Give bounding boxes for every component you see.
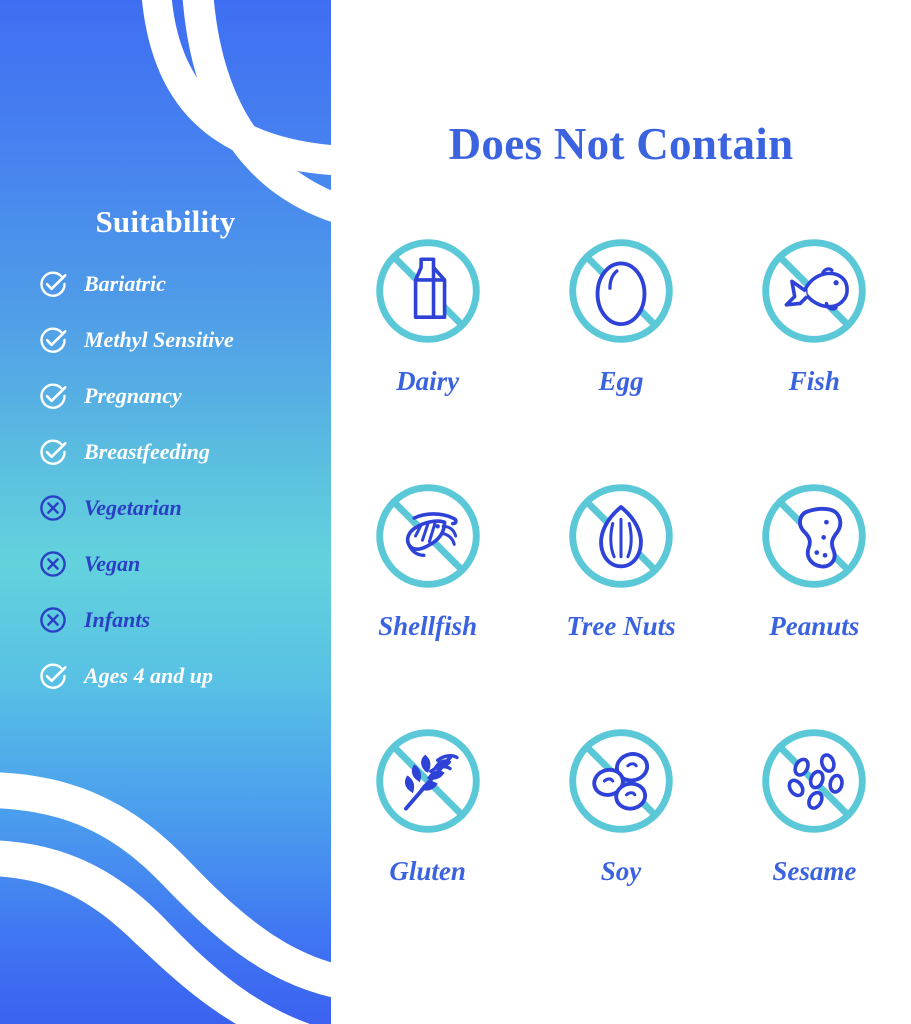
suitability-item-vegetarian[interactable]: Vegetarian [38, 492, 323, 524]
allergen-item-shellfish[interactable]: Shellfish [331, 467, 524, 712]
allergen-label: Fish [789, 368, 840, 395]
suitability-item-label: Breastfeeding [84, 441, 210, 463]
no-egg-icon [552, 222, 690, 360]
allergen-item-tree-nuts[interactable]: Tree Nuts [524, 467, 717, 712]
suitability-item-infants[interactable]: Infants [38, 604, 323, 636]
check-circle-icon [38, 437, 68, 467]
suitability-item-label: Pregnancy [84, 385, 182, 407]
x-circle-icon [38, 605, 68, 635]
no-shellfish-icon [359, 467, 497, 605]
suitability-panel: Suitability Bariatric Methyl Sensitive [0, 0, 331, 1024]
no-dairy-icon [359, 222, 497, 360]
suitability-item-pregnancy[interactable]: Pregnancy [38, 380, 323, 412]
check-circle-icon [38, 325, 68, 355]
suitability-item-methyl-sensitive[interactable]: Methyl Sensitive [38, 324, 323, 356]
does-not-contain-panel: Does Not Contain Dairy [331, 0, 911, 1024]
allergen-label: Tree Nuts [566, 613, 675, 640]
suitability-item-label: Ages 4 and up [84, 665, 213, 687]
allergen-item-egg[interactable]: Egg [524, 222, 717, 467]
allergen-label: Shellfish [378, 613, 477, 640]
no-gluten-icon [359, 712, 497, 850]
allergen-label: Egg [598, 368, 643, 395]
allergen-label: Soy [601, 858, 642, 885]
suitability-item-bariatric[interactable]: Bariatric [38, 268, 323, 300]
x-circle-icon [38, 549, 68, 579]
suitability-item-vegan[interactable]: Vegan [38, 548, 323, 580]
suitability-heading: Suitability [0, 204, 331, 240]
allergen-label: Sesame [772, 858, 856, 885]
wave-bottom-spacer [0, 786, 331, 1024]
check-circle-icon [38, 661, 68, 691]
check-circle-icon [38, 269, 68, 299]
allergen-label: Peanuts [769, 613, 859, 640]
suitability-item-label: Bariatric [84, 273, 166, 295]
allergen-item-soy[interactable]: Soy [524, 712, 717, 957]
suitability-item-label: Vegan [84, 553, 140, 575]
suitability-item-label: Infants [84, 609, 150, 631]
no-fish-icon [745, 222, 883, 360]
no-sesame-icon [745, 712, 883, 850]
no-peanuts-icon [745, 467, 883, 605]
allergen-label: Gluten [389, 858, 466, 885]
x-circle-icon [38, 493, 68, 523]
allergen-item-dairy[interactable]: Dairy [331, 222, 524, 467]
suitability-item-breastfeeding[interactable]: Breastfeeding [38, 436, 323, 468]
suitability-item-label: Methyl Sensitive [84, 329, 234, 351]
allergen-label: Dairy [396, 368, 459, 395]
allergen-item-gluten[interactable]: Gluten [331, 712, 524, 957]
allergen-item-fish[interactable]: Fish [718, 222, 911, 467]
suitability-item-ages-4-and-up[interactable]: Ages 4 and up [38, 660, 323, 692]
suitability-item-label: Vegetarian [84, 497, 182, 519]
allergen-info-graphic: Suitability Bariatric Methyl Sensitive [0, 0, 911, 1024]
no-soy-icon [552, 712, 690, 850]
no-tree-nuts-icon [552, 467, 690, 605]
allergen-item-peanuts[interactable]: Peanuts [718, 467, 911, 712]
allergen-grid: Dairy Egg [331, 222, 911, 957]
page-title: Does Not Contain [331, 118, 911, 170]
allergen-item-sesame[interactable]: Sesame [718, 712, 911, 957]
check-circle-icon [38, 381, 68, 411]
suitability-list: Bariatric Methyl Sensitive Pregnancy [38, 268, 323, 716]
